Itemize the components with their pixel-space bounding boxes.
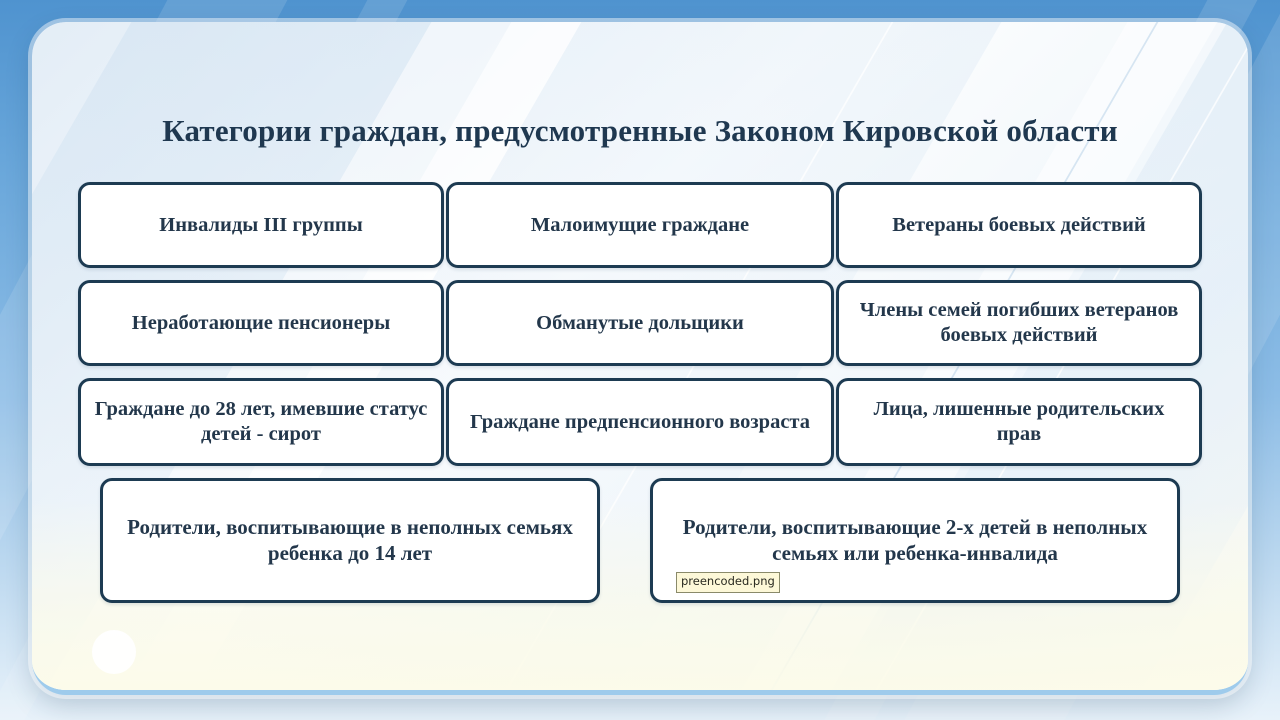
category-label: Родители, воспитывающие в неполных семья… <box>113 515 587 566</box>
category-box[interactable]: Обманутые дольщики <box>446 280 834 366</box>
file-name-tooltip: preencoded.png <box>676 572 780 593</box>
decorative-circle <box>92 630 136 674</box>
categories-grid: Инвалиды III группы Малоимущие граждане … <box>78 182 1202 603</box>
category-label: Инвалиды III группы <box>159 213 362 238</box>
category-label: Обманутые дольщики <box>536 311 744 336</box>
category-label: Граждане предпенсионного возраста <box>470 410 810 435</box>
category-box[interactable]: Ветераны боевых действий <box>836 182 1202 268</box>
category-box[interactable]: Лица, лишенные родительских прав <box>836 378 1202 466</box>
page-title: Категории граждан, предусмотренные Закон… <box>32 113 1248 149</box>
category-label: Неработающие пенсионеры <box>132 311 390 336</box>
category-box[interactable]: Неработающие пенсионеры <box>78 280 444 366</box>
category-box[interactable]: Граждане до 28 лет, имевшие статус детей… <box>78 378 444 466</box>
category-label: Граждане до 28 лет, имевшие статус детей… <box>91 397 431 447</box>
category-box[interactable]: Инвалиды III группы <box>78 182 444 268</box>
category-box[interactable]: Граждане предпенсионного возраста <box>446 378 834 466</box>
category-box[interactable]: Малоимущие граждане <box>446 182 834 268</box>
category-label: Малоимущие граждане <box>531 213 749 238</box>
category-label: Родители, воспитывающие 2-х детей в непо… <box>663 515 1167 566</box>
categories-row-1: Инвалиды III группы Малоимущие граждане … <box>78 182 1202 268</box>
category-label: Лица, лишенные родительских прав <box>849 397 1189 447</box>
categories-row-2: Неработающие пенсионеры Обманутые дольщи… <box>78 280 1202 366</box>
categories-row-4: Родители, воспитывающие в неполных семья… <box>100 478 1180 603</box>
category-box[interactable]: Родители, воспитывающие в неполных семья… <box>100 478 600 603</box>
slide-card: Категории граждан, предусмотренные Закон… <box>32 22 1248 695</box>
category-label: Ветераны боевых действий <box>892 213 1145 238</box>
categories-row-3: Граждане до 28 лет, имевшие статус детей… <box>78 378 1202 466</box>
category-label: Члены семей погибших ветеранов боевых де… <box>849 298 1189 348</box>
category-box[interactable]: Члены семей погибших ветеранов боевых де… <box>836 280 1202 366</box>
